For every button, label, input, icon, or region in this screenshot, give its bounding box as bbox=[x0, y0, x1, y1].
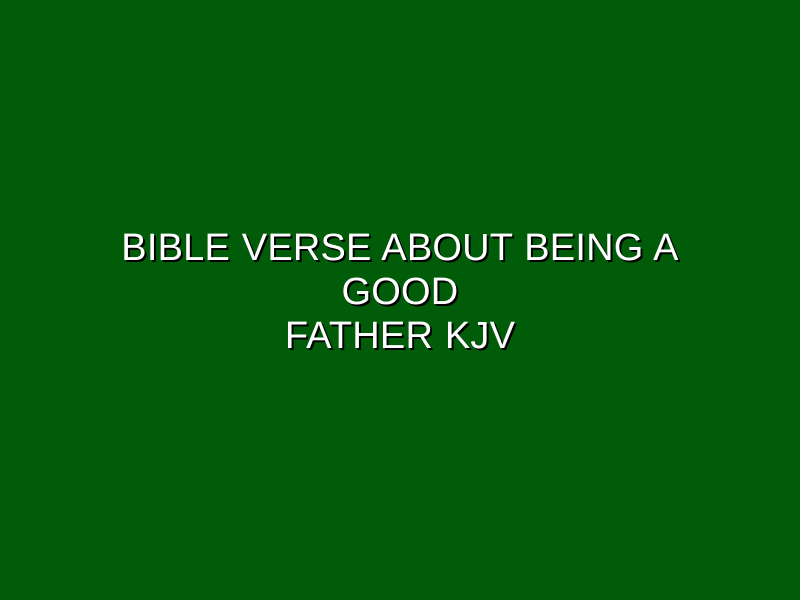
title-block: BIBLE VERSE ABOUT BEING A GOOD FATHER KJ… bbox=[80, 226, 720, 358]
page-title: BIBLE VERSE ABOUT BEING A GOOD FATHER KJ… bbox=[80, 226, 720, 358]
banner-background: BIBLE VERSE ABOUT BEING A GOOD FATHER KJ… bbox=[0, 0, 800, 600]
